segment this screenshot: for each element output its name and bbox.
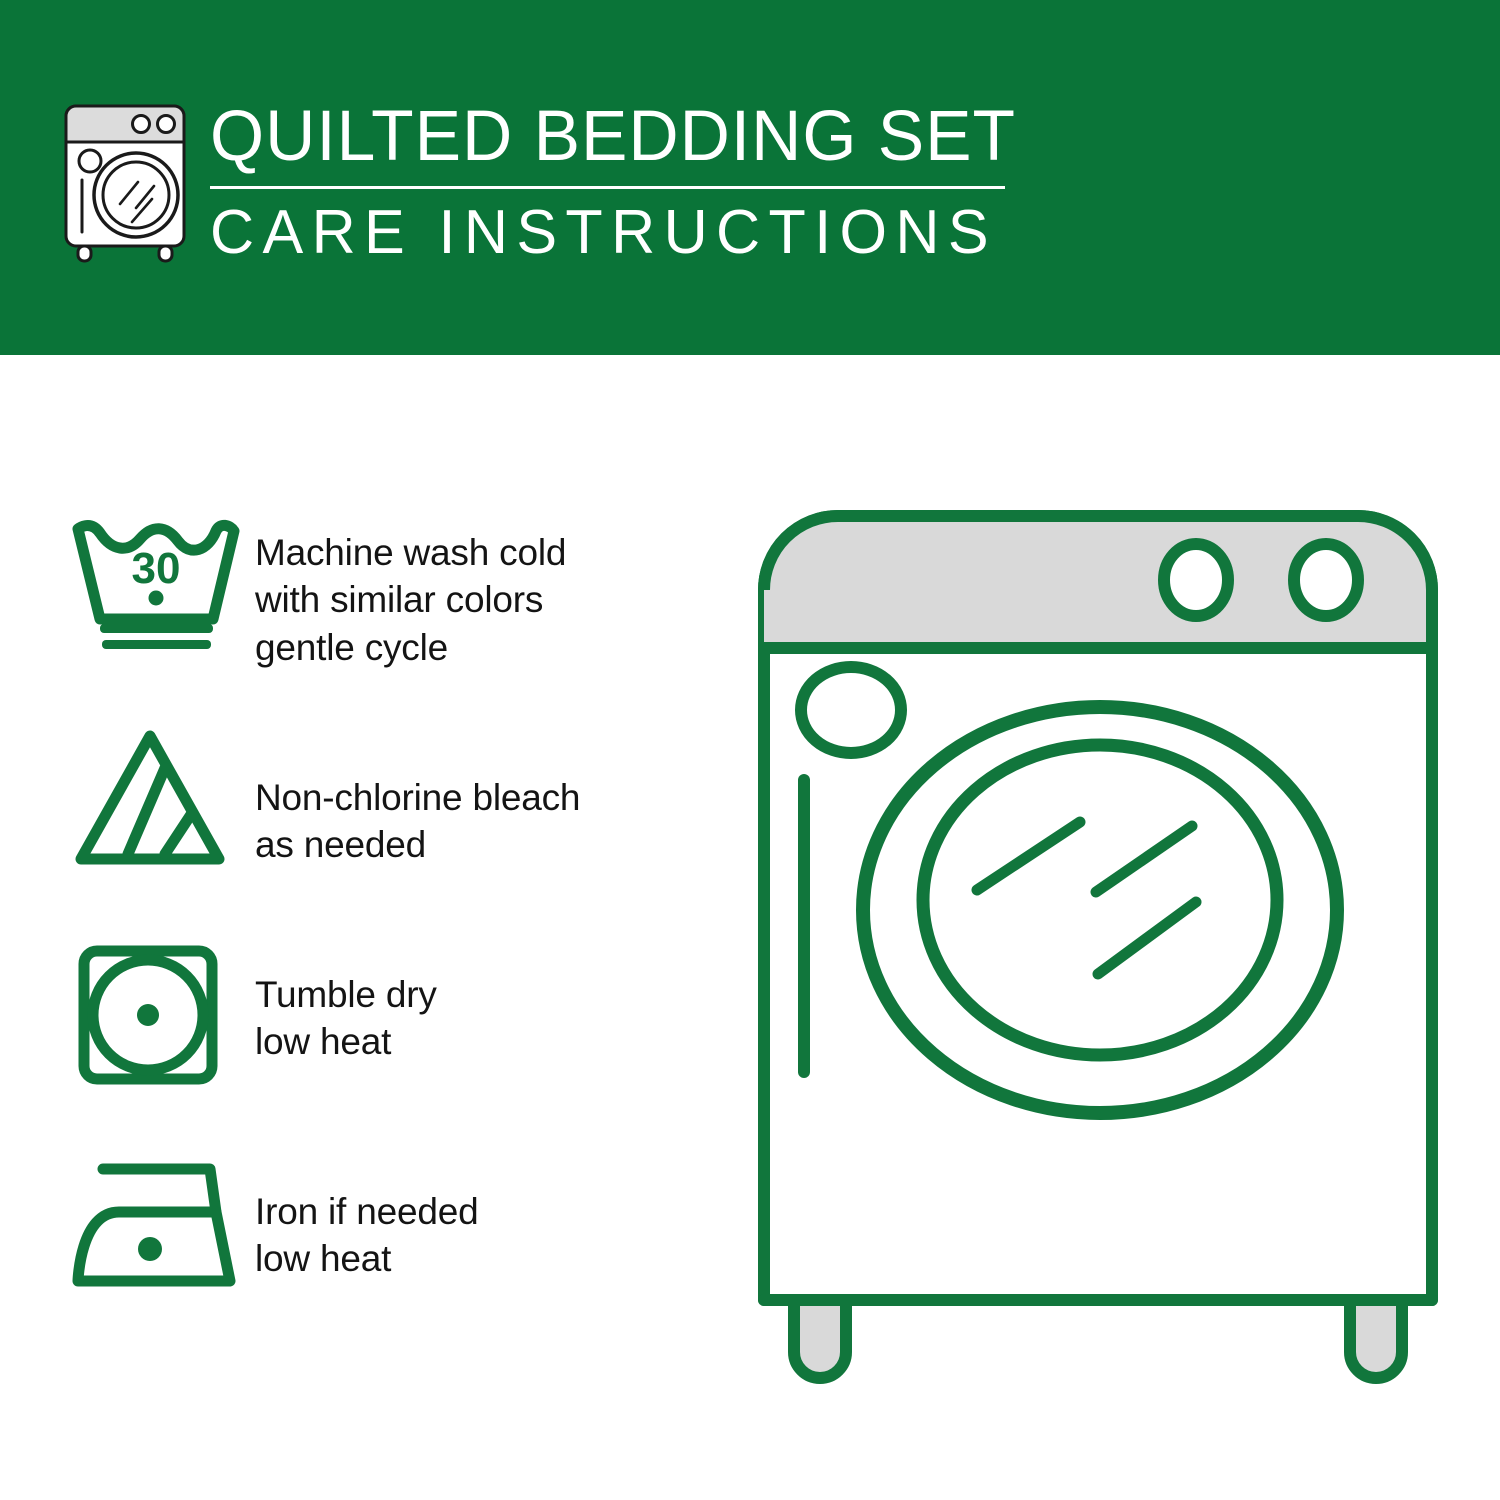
tumble-dry-icon: [70, 935, 255, 1091]
leg-left: [794, 1300, 846, 1378]
control-knob-left: [1164, 544, 1228, 616]
page-subtitle: CARE INSTRUCTIONS: [210, 202, 1028, 264]
care-label-wash: Machine wash cold with similar colors ge…: [255, 505, 710, 671]
care-row-bleach: Non-chlorine bleach as needed: [70, 720, 710, 935]
care-label-line: with similar colors: [255, 576, 710, 623]
wash-temperature-label: 30: [132, 544, 181, 593]
care-label-tumble-dry: Tumble dry low heat: [255, 935, 710, 1066]
header-banner: QUILTED BEDDING SET CARE INSTRUCTIONS: [0, 0, 1500, 355]
leg-right: [1350, 1300, 1402, 1378]
care-label-iron: Iron if needed low heat: [255, 1150, 710, 1283]
control-knob-right: [1294, 544, 1358, 616]
care-label-line: Non-chlorine bleach: [255, 774, 710, 821]
care-row-tumble-dry: Tumble dry low heat: [70, 935, 710, 1150]
care-label-line: low heat: [255, 1235, 710, 1282]
care-label-line: Iron if needed: [255, 1188, 710, 1235]
wash-dot: [149, 591, 164, 606]
door-inner-ring: [923, 745, 1277, 1055]
care-row-wash: 30 Machine wash cold with similar colors…: [70, 505, 710, 720]
bleach-triangle-icon: [70, 720, 255, 871]
care-label-line: gentle cycle: [255, 624, 710, 671]
front-load-washing-machine-illustration: [748, 500, 1448, 1420]
detergent-dispenser-knob: [801, 667, 901, 753]
header-content: QUILTED BEDDING SET CARE INSTRUCTIONS: [60, 98, 1040, 273]
wash-tub-30-icon: 30: [70, 505, 255, 651]
header-title-group: QUILTED BEDDING SET CARE INSTRUCTIONS: [210, 98, 1040, 264]
washing-machine-icon: [60, 98, 192, 263]
iron-dot: [138, 1237, 162, 1261]
care-label-line: Tumble dry: [255, 971, 710, 1018]
care-label-line: Machine wash cold: [255, 529, 710, 576]
page-title: QUILTED BEDDING SET: [210, 102, 1023, 172]
care-label-bleach: Non-chlorine bleach as needed: [255, 720, 710, 869]
care-label-line: as needed: [255, 821, 710, 868]
iron-icon: [70, 1150, 255, 1296]
tumble-dry-dot: [137, 1004, 159, 1026]
care-instruction-list: 30 Machine wash cold with similar colors…: [70, 505, 710, 1365]
title-divider: [210, 186, 1005, 189]
care-label-line: low heat: [255, 1018, 710, 1065]
care-row-iron: Iron if needed low heat: [70, 1150, 710, 1365]
